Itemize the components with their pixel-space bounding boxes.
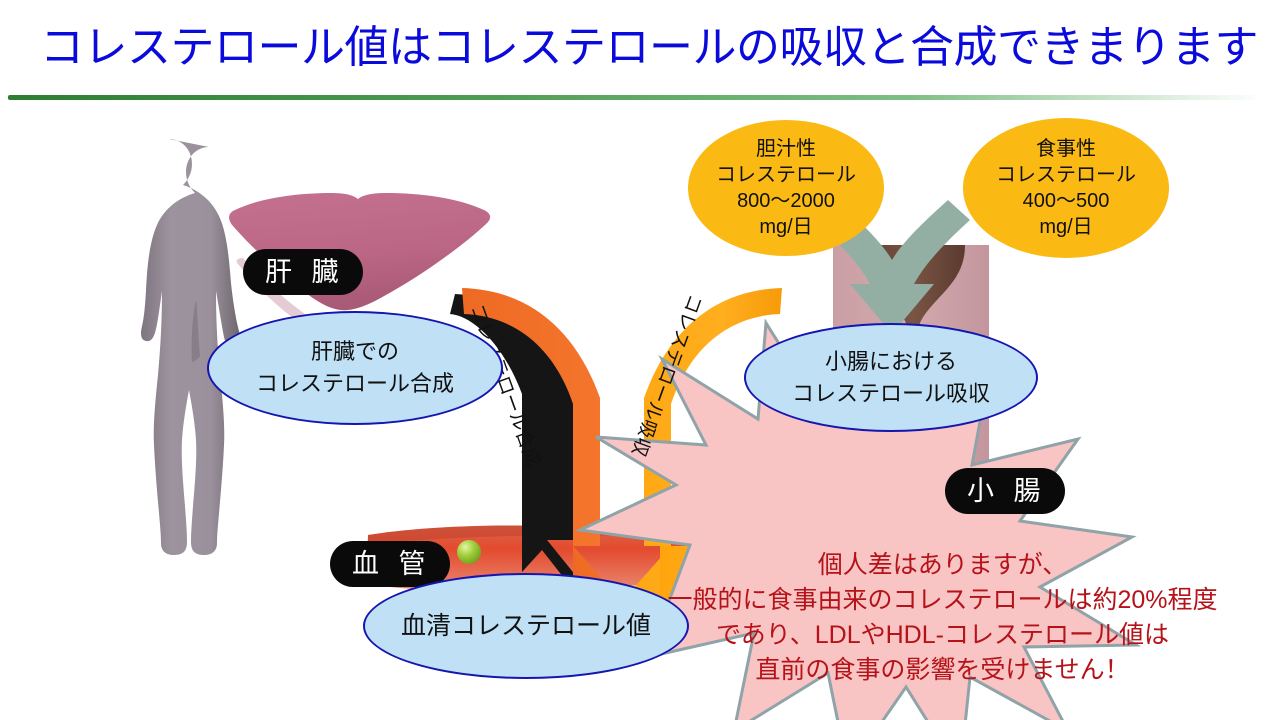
slide-canvas: コレステロール値はコレステロールの吸収と合成できまります: [0, 0, 1280, 720]
liver-label: 肝 臓: [243, 249, 363, 295]
small-intestine-label: 小 腸: [945, 468, 1065, 514]
liver-synthesis-callout: 肝臓での コレステロール合成: [207, 311, 503, 425]
blood-vessel-label: 血 管: [330, 541, 450, 587]
emphasis-message: 個人差はありますが、 一般的に食事由来のコレステロールは約20%程度 であり、L…: [610, 548, 1275, 688]
dietary-cholesterol-bubble: 食事性 コレステロール 400〜500 mg/日: [963, 118, 1169, 258]
cholesterol-particle: [457, 540, 481, 564]
bile-cholesterol-bubble: 胆汁性 コレステロール 800〜2000 mg/日: [688, 120, 884, 256]
intestine-absorption-callout: 小腸における コレステロール吸収: [744, 323, 1038, 432]
